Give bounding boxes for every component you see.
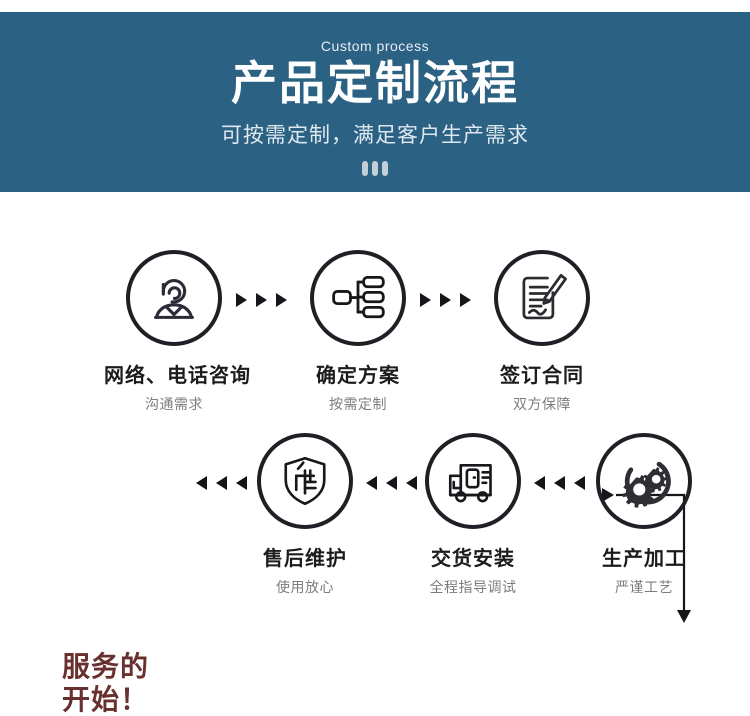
- arrow-left-icon: [554, 476, 565, 490]
- step-contract-circle: [494, 250, 590, 346]
- banner-subtitle: 可按需定制，满足客户生产需求: [221, 119, 529, 149]
- step-production[interactable]: 生产加工 严谨工艺: [574, 433, 714, 597]
- banner-eyebrow: Custom process: [321, 38, 429, 54]
- arrow-group-2: [420, 293, 471, 307]
- step-consultation-circle: [126, 250, 222, 346]
- arrow-group-1: [236, 293, 287, 307]
- arrow-right-icon: [276, 293, 287, 307]
- step-consultation[interactable]: 网络、电话咨询 沟通需求: [104, 250, 244, 414]
- header-banner: Custom process 产品定制流程 可按需定制，满足客户生产需求: [0, 12, 750, 192]
- process-flow: 网络、电话咨询 沟通需求: [0, 192, 750, 630]
- step-solution[interactable]: 确定方案 按需定制: [288, 250, 428, 414]
- step-contract[interactable]: 签订合同 双方保障: [472, 250, 612, 414]
- arrow-right-icon: [440, 293, 451, 307]
- arrow-left-icon: [196, 476, 207, 490]
- step-contract-sub: 双方保障: [472, 394, 612, 414]
- banner-dots-decoration: [362, 161, 388, 176]
- step-production-circle: [596, 433, 692, 529]
- arrow-left-icon: [366, 476, 377, 490]
- step-after-sales-circle: [257, 433, 353, 529]
- arrow-left-icon: [534, 476, 545, 490]
- custom-process-infographic: Custom process 产品定制流程 可按需定制，满足客户生产需求: [0, 0, 750, 630]
- step-production-sub: 严谨工艺: [574, 577, 714, 597]
- arrow-right-icon: [236, 293, 247, 307]
- step-after-sales[interactable]: 售后维护 使用放心: [235, 433, 375, 597]
- step-consultation-title: 网络、电话咨询: [104, 359, 244, 388]
- page-title: 产品定制流程: [231, 59, 519, 109]
- step-after-sales-sub: 使用放心: [235, 577, 375, 597]
- step-after-sales-title: 售后维护: [235, 542, 375, 571]
- service-start-label: 服务的 开始！: [62, 650, 192, 716]
- step-delivery[interactable]: 交货安装 全程指导调试: [403, 433, 543, 597]
- step-solution-title: 确定方案: [288, 359, 428, 388]
- delivery-truck-icon: [445, 453, 501, 509]
- arrow-down-icon: [677, 610, 691, 623]
- arrow-right-icon: [460, 293, 471, 307]
- step-delivery-circle: [425, 433, 521, 529]
- step-consultation-sub: 沟通需求: [104, 394, 244, 414]
- arrow-left-icon: [216, 476, 227, 490]
- step-production-title: 生产加工: [574, 542, 714, 571]
- shield-service-icon: [277, 453, 333, 509]
- service-start-line2: 开始！: [62, 683, 192, 716]
- arrow-left-icon: [386, 476, 397, 490]
- step-contract-title: 签订合同: [472, 359, 612, 388]
- org-chart-icon: [328, 268, 388, 328]
- arrow-right-icon: [256, 293, 267, 307]
- headset-person-icon: [143, 267, 205, 329]
- dot-2: [372, 161, 378, 176]
- dot-3: [382, 161, 388, 176]
- step-solution-circle: [310, 250, 406, 346]
- step-solution-sub: 按需定制: [288, 394, 428, 414]
- service-start-line1: 服务的: [62, 650, 192, 683]
- arrow-right-icon: [420, 293, 431, 307]
- step-delivery-sub: 全程指导调试: [403, 577, 543, 597]
- gears-production-icon: [614, 451, 674, 511]
- step-delivery-title: 交货安装: [403, 542, 543, 571]
- dot-1: [362, 161, 368, 176]
- contract-sign-icon: [513, 269, 571, 327]
